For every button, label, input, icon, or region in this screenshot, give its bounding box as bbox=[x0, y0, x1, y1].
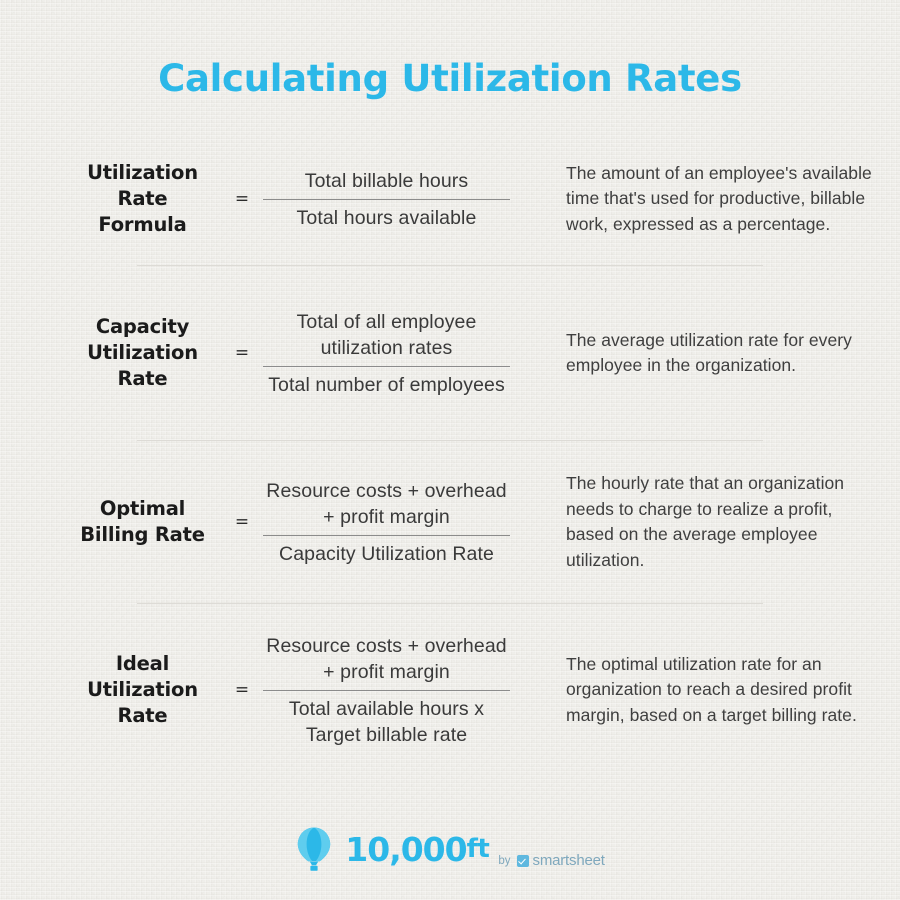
formula-fraction: Resource costs + overhead + profit margi… bbox=[259, 633, 514, 748]
formula-fraction: Resource costs + overhead + profit margi… bbox=[259, 478, 514, 567]
formula-rows: UtilizationRateFormula = Total billable … bbox=[0, 133, 900, 776]
fraction-numerator: Resource costs + overhead + profit margi… bbox=[259, 633, 514, 685]
formula-row: CapacityUtilizationRate = Total of all e… bbox=[0, 266, 900, 440]
fraction-numerator: Total billable hours bbox=[259, 168, 514, 194]
formula-description: The optimal utilization rate for an orga… bbox=[514, 652, 880, 729]
formula-description: The hourly rate that an organization nee… bbox=[514, 471, 880, 573]
formula-label: CapacityUtilizationRate bbox=[60, 314, 225, 392]
fraction-denominator: Total number of employees bbox=[259, 372, 514, 398]
smartsheet-checkbox-icon bbox=[517, 855, 529, 867]
formula-row: IdealUtilizationRate = Resource costs + … bbox=[0, 604, 900, 776]
formula-label: OptimalBilling Rate bbox=[60, 496, 225, 548]
formula-description: The average utilization rate for every e… bbox=[514, 328, 880, 379]
hot-air-balloon-icon bbox=[295, 826, 333, 872]
fraction-numerator: Total of all employee utilization rates bbox=[259, 309, 514, 361]
equals-sign: = bbox=[225, 512, 259, 532]
by-text: by bbox=[498, 855, 510, 872]
brand-suffix: ft bbox=[467, 834, 490, 864]
formula-fraction: Total of all employee utilization rates … bbox=[259, 309, 514, 398]
equals-sign: = bbox=[225, 680, 259, 700]
fraction-bar bbox=[263, 199, 510, 200]
brand-name: 10,000 bbox=[345, 833, 466, 866]
footer-branding: 10,000 ft by smartsheet bbox=[0, 826, 900, 872]
formula-row: UtilizationRateFormula = Total billable … bbox=[0, 133, 900, 265]
page-title: Calculating Utilization Rates bbox=[0, 57, 900, 100]
formula-description: The amount of an employee's available ti… bbox=[514, 161, 880, 238]
equals-sign: = bbox=[225, 189, 259, 209]
fraction-numerator: Resource costs + overhead + profit margi… bbox=[259, 478, 514, 530]
formula-row: OptimalBilling Rate = Resource costs + o… bbox=[0, 441, 900, 603]
smartsheet-wordmark: smartsheet bbox=[533, 852, 605, 872]
infographic-page: Calculating Utilization Rates Utilizatio… bbox=[0, 0, 900, 900]
fraction-denominator: Capacity Utilization Rate bbox=[259, 541, 514, 567]
fraction-bar bbox=[263, 690, 510, 691]
fraction-bar bbox=[263, 535, 510, 536]
fraction-denominator: Total hours available bbox=[259, 205, 514, 231]
formula-label: IdealUtilizationRate bbox=[60, 651, 225, 729]
fraction-bar bbox=[263, 366, 510, 367]
formula-fraction: Total billable hours Total hours availab… bbox=[259, 168, 514, 231]
formula-label: UtilizationRateFormula bbox=[60, 160, 225, 238]
fraction-denominator: Total available hours x Target billable … bbox=[259, 696, 514, 748]
equals-sign: = bbox=[225, 343, 259, 363]
